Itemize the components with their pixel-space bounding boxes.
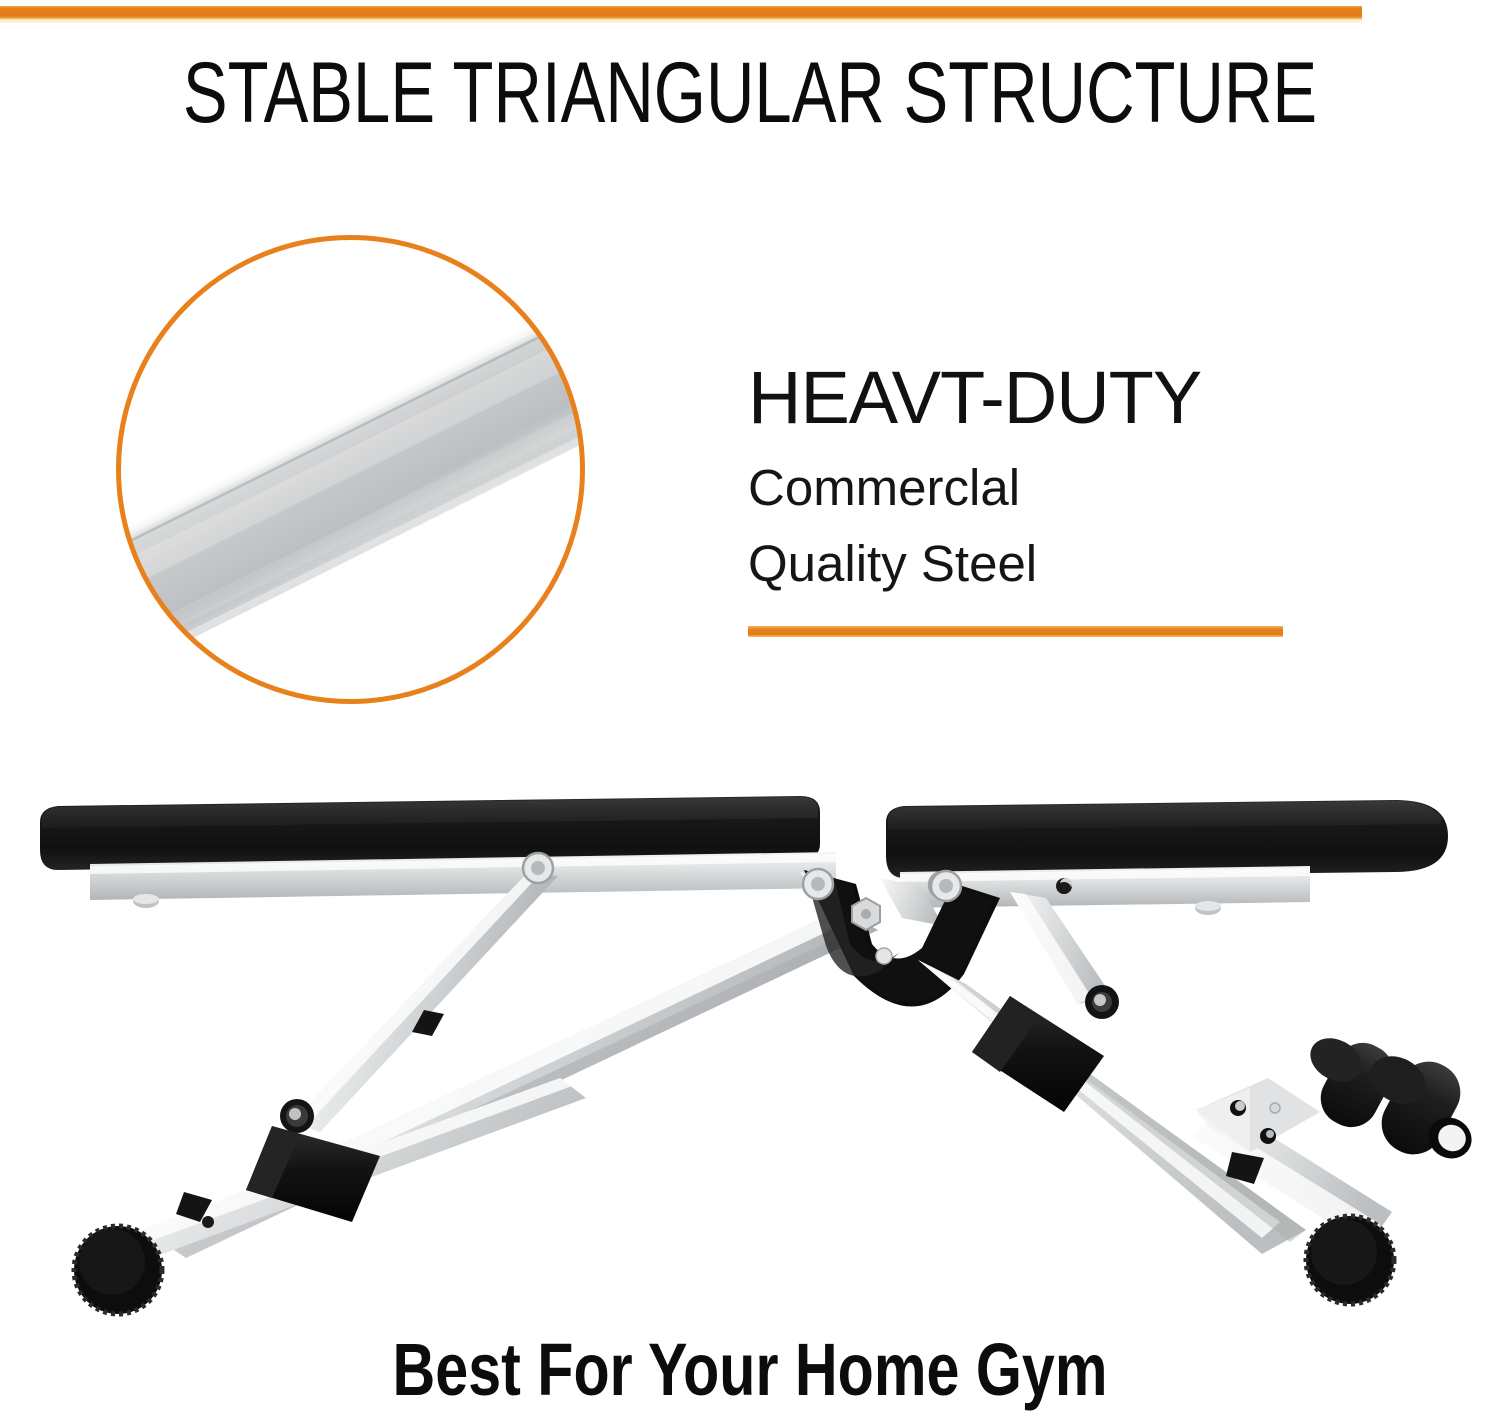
steel-tube-closeup [115,234,586,705]
feature-heading: HEAVT-DUTY [748,358,1293,438]
hinge-rivet [876,948,892,964]
product-image-adjustable-folding-weight-bench [0,760,1500,1340]
product-feature-page: STABLE TRIANGULAR STRUCTURE [0,0,1500,1425]
right-foot-cap [1306,1216,1394,1304]
feature-line-2: Quality Steel [748,526,1293,602]
feature-underline-rule [748,626,1283,637]
top-accent-bar-glow [0,19,1362,24]
top-accent-bar [0,6,1362,19]
feature-text-block: HEAVT-DUTY Commerclal Quality Steel [748,358,1293,637]
left-foot-cap [74,1226,162,1314]
footer-tagline: Best For Your Home Gym [150,1330,1350,1410]
page-title: STABLE TRIANGULAR STRUCTURE [165,50,1335,136]
feature-line-1: Commerclal [748,450,1293,526]
